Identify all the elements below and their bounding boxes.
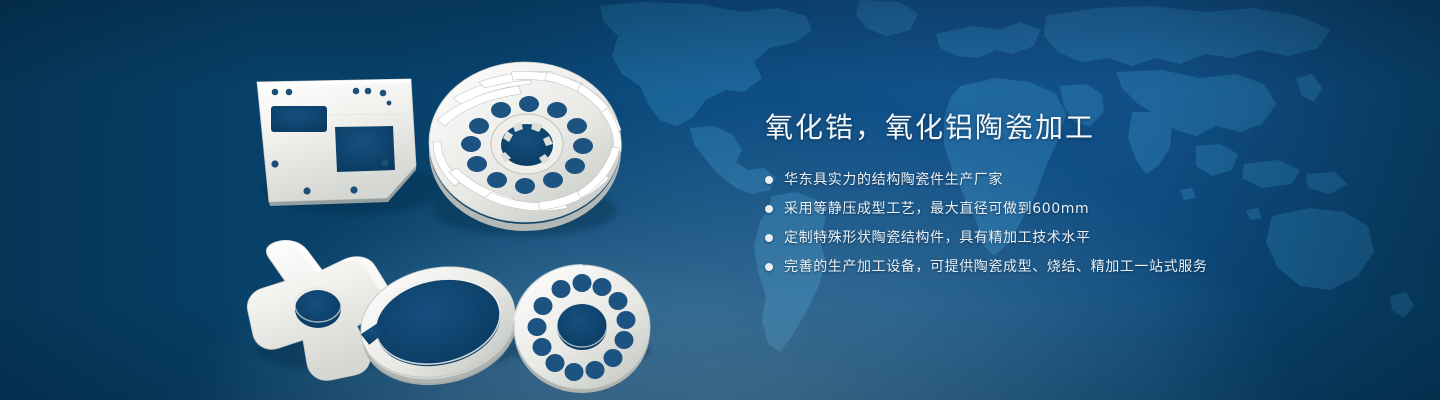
page-title: 氧化锆，氧化铝陶瓷加工 [765, 108, 1385, 148]
list-item-label: 完善的生产加工设备，可提供陶瓷成型、烧结、精加工一站式服务 [784, 257, 1207, 277]
bullet-dot-icon [765, 176, 773, 184]
feature-list: 华东具实力的结构陶瓷件生产厂家 采用等静压成型工艺，最大直径可做到600mm 定… [765, 170, 1385, 277]
list-item-label: 华东具实力的结构陶瓷件生产厂家 [784, 170, 1003, 190]
list-item-label: 采用等静压成型工艺，最大直径可做到600mm [784, 199, 1089, 219]
banner-copy: 氧化锆，氧化铝陶瓷加工 华东具实力的结构陶瓷件生产厂家 采用等静压成型工艺，最大… [765, 108, 1385, 277]
hero-banner: 氧化锆，氧化铝陶瓷加工 华东具实力的结构陶瓷件生产厂家 采用等静压成型工艺，最大… [0, 0, 1440, 400]
ceramic-perforated-disc [514, 265, 650, 393]
ceramic-plate-with-cutouts [257, 79, 416, 206]
list-item: 完善的生产加工设备，可提供陶瓷成型、烧结、精加工一站式服务 [765, 257, 1385, 277]
list-item-label: 定制特殊形状陶瓷结构件，具有精加工技术水平 [784, 228, 1091, 248]
list-item: 采用等静压成型工艺，最大直径可做到600mm [765, 199, 1385, 219]
list-item: 定制特殊形状陶瓷结构件，具有精加工技术水平 [765, 228, 1385, 248]
bullet-dot-icon [765, 263, 773, 271]
list-item: 华东具实力的结构陶瓷件生产厂家 [765, 170, 1385, 190]
ceramic-impeller-disc [429, 62, 621, 231]
bullet-dot-icon [765, 205, 773, 213]
bullet-dot-icon [765, 234, 773, 242]
ceramic-products-image [225, 30, 725, 380]
